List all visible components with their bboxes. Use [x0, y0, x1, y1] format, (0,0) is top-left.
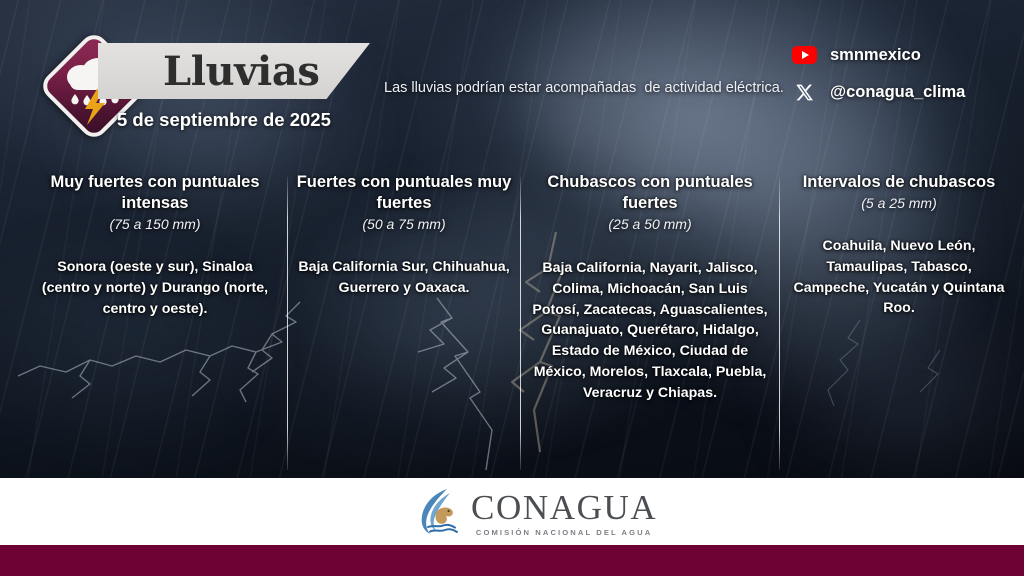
category-range: (75 a 150 mm) — [33, 216, 277, 232]
column-divider — [287, 177, 288, 470]
social-row-youtube[interactable]: smnmexico — [792, 40, 992, 70]
footer-maroon-bar — [0, 545, 1024, 576]
category-range: (25 a 50 mm) — [530, 216, 770, 232]
category-column-muy-fuertes: Muy fuertes con puntuales intensas (75 a… — [33, 172, 277, 319]
category-column-chubascos-puntuales: Chubascos con puntuales fuertes (25 a 50… — [530, 172, 770, 403]
lead-statement: Las lluvias podrían estar acompañadas de… — [384, 80, 804, 96]
category-title: Chubascos con puntuales fuertes — [530, 172, 770, 214]
conagua-water-eagle-icon — [417, 487, 463, 537]
conagua-wordmark: CONAGUA COMISIÓN NACIONAL DEL AGUA — [471, 488, 657, 537]
category-range: (5 a 25 mm) — [789, 195, 1009, 211]
youtube-icon — [792, 46, 817, 64]
category-title: Muy fuertes con puntuales intensas — [33, 172, 277, 214]
category-column-intervalos: Intervalos de chubascos (5 a 25 mm) Coah… — [789, 172, 1009, 319]
category-title: Fuertes con puntuales muy fuertes — [296, 172, 512, 214]
conagua-logo: CONAGUA COMISIÓN NACIONAL DEL AGUA — [417, 487, 657, 537]
category-states: Baja California, Nayarit, Jalisco, Colim… — [530, 258, 770, 403]
x-handle: @conagua_clima — [830, 83, 965, 102]
rainfall-categories: Muy fuertes con puntuales intensas (75 a… — [0, 172, 1024, 472]
youtube-handle: smnmexico — [830, 46, 921, 65]
category-title: Intervalos de chubascos — [789, 172, 1009, 193]
conagua-name: CONAGUA — [471, 490, 657, 525]
category-states: Baja California Sur, Chihuahua, Guerrero… — [296, 257, 512, 298]
social-handles: smnmexico @conagua_clima — [792, 40, 992, 114]
forecast-date: 5 de septiembre de 2025 — [117, 109, 331, 131]
column-divider — [779, 177, 780, 470]
category-states: Coahuila, Nuevo León, Tamaulipas, Tabasc… — [789, 236, 1009, 319]
x-twitter-icon — [792, 83, 817, 102]
poster-header: Lluvias 5 de septiembre de 2025 Las lluv… — [0, 0, 1024, 160]
conagua-subtitle: COMISIÓN NACIONAL DEL AGUA — [471, 528, 657, 537]
column-divider — [520, 177, 521, 470]
category-states: Sonora (oeste y sur), Sinaloa (centro y … — [33, 257, 277, 319]
category-range: (50 a 75 mm) — [296, 216, 512, 232]
category-column-fuertes: Fuertes con puntuales muy fuertes (50 a … — [296, 172, 512, 299]
page-title: Lluvias — [163, 44, 373, 98]
rainfall-forecast-poster: Lluvias 5 de septiembre de 2025 Las lluv… — [0, 0, 1024, 576]
social-row-x[interactable]: @conagua_clima — [792, 77, 992, 107]
